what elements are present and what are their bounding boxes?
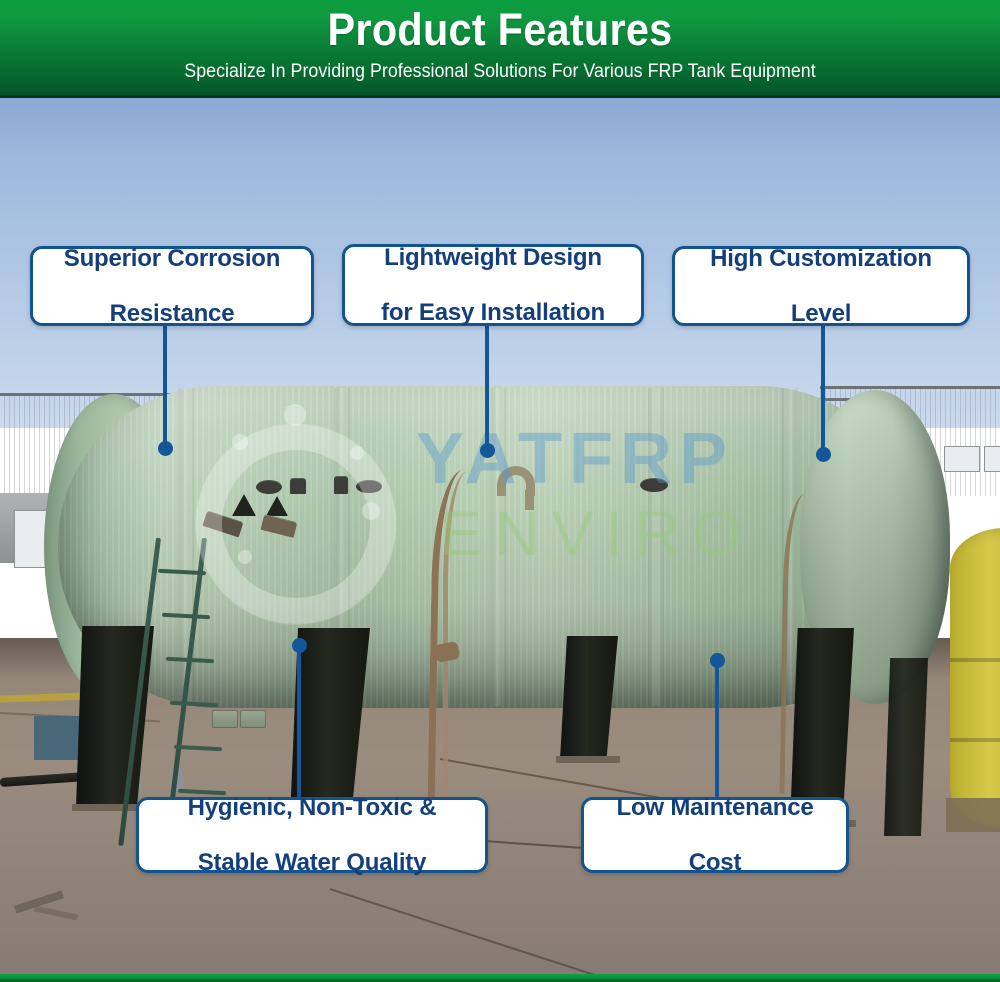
callout-line-1a: Superior Corrosion [56,245,288,272]
tank-hatch-2 [240,710,266,728]
callout-line-5a: Low Maintenance [608,794,821,821]
callout-line-4b: Stable Water Quality [180,849,445,876]
callout-low-maintenance-cost[interactable]: Low Maintenance Cost [581,797,849,873]
leader-line-3 [821,324,825,454]
tank-saddle-5 [884,658,928,836]
tank-saddle-foot-3 [556,756,620,763]
tank-nozzle-3 [334,476,348,494]
tank-nozzle-2 [290,478,306,494]
leader-line-5 [715,660,719,798]
leader-dot-2 [480,443,495,458]
leader-dot-3 [816,447,831,462]
callout-line-4a: Hygienic, Non-Toxic & [180,794,445,821]
callout-superior-corrosion-resistance[interactable]: Superior Corrosion Resistance [30,246,314,326]
callout-text-3: High Customization Level [694,245,948,327]
callout-high-customization-level[interactable]: High Customization Level [672,246,970,326]
callout-line-2b: for Easy Installation [373,299,613,326]
leader-line-4 [297,645,301,797]
callout-line-5b: Cost [608,849,821,876]
window-right-2 [984,446,1000,472]
tank-nozzle-1 [256,480,282,494]
tank-nozzle-4 [356,480,382,493]
leader-dot-5 [710,653,725,668]
callout-line-2a: Lightweight Design [373,244,613,271]
footer-highlight [0,974,1000,979]
window-right-1 [944,446,980,472]
leader-line-2 [485,324,489,450]
callout-line-1b: Resistance [56,300,288,327]
tank-seam-4 [648,388,664,706]
footer-strip [0,974,1000,982]
leader-dot-4 [292,638,307,653]
tank-nozzle-5 [640,478,668,492]
leader-dot-1 [158,441,173,456]
yellow-tank-saddle [946,798,1000,832]
header-banner: Product Features Specialize In Providing… [0,0,1000,98]
callout-text-5: Low Maintenance Cost [600,794,829,876]
vent-pipe-leg [525,490,534,510]
yellow-tank-band-1 [950,658,1000,662]
leader-line-1 [163,326,167,448]
callout-hygienic-non-toxic[interactable]: Hygienic, Non-Toxic & Stable Water Quali… [136,797,488,873]
secondary-yellow-tank [950,528,1000,828]
page-subtitle: Specialize In Providing Professional Sol… [30,60,970,84]
callout-lightweight-design[interactable]: Lightweight Design for Easy Installation [342,244,644,326]
callout-text-4: Hygienic, Non-Toxic & Stable Water Quali… [172,794,453,876]
infographic-canvas: Product Features Specialize In Providing… [0,0,1000,982]
tank-seam-3 [490,388,506,706]
ladder-rung-2 [162,613,210,620]
callout-text-2: Lightweight Design for Easy Installation [365,244,621,326]
callout-text-1: Superior Corrosion Resistance [48,245,296,327]
callout-line-3b: Level [702,300,940,327]
ladder-rung-4 [170,701,218,708]
ladder-rung-5 [174,745,222,752]
page-title: Product Features [40,4,960,56]
callout-line-3a: High Customization [702,245,940,272]
yellow-tank-band-2 [950,738,1000,742]
